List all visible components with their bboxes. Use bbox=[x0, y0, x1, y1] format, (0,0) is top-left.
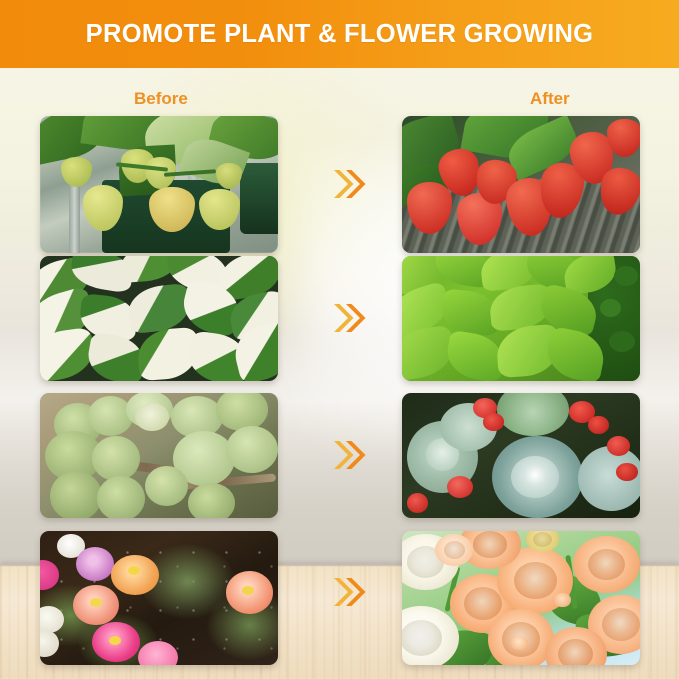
arrow-row-1 bbox=[326, 162, 370, 206]
photo-flower-before bbox=[40, 531, 278, 665]
after-column-label: After bbox=[530, 89, 570, 109]
header-banner: PROMOTE PLANT & FLOWER GROWING bbox=[0, 0, 679, 68]
banner-title: PROMOTE PLANT & FLOWER GROWING bbox=[86, 20, 594, 49]
photo-strawberry-after bbox=[402, 116, 640, 253]
photo-flower-after bbox=[402, 531, 640, 665]
photo-pothos-before bbox=[40, 256, 278, 381]
arrow-row-4 bbox=[326, 570, 370, 614]
photo-strawberry-before bbox=[40, 116, 278, 253]
photo-succulent-before bbox=[40, 393, 278, 518]
promo-infographic: PROMOTE PLANT & FLOWER GROWING Before Af… bbox=[0, 0, 679, 679]
photo-pothos-after bbox=[402, 256, 640, 381]
before-column-label: Before bbox=[134, 89, 188, 109]
photo-succulent-after bbox=[402, 393, 640, 518]
arrow-row-3 bbox=[326, 433, 370, 477]
arrow-row-2 bbox=[326, 296, 370, 340]
